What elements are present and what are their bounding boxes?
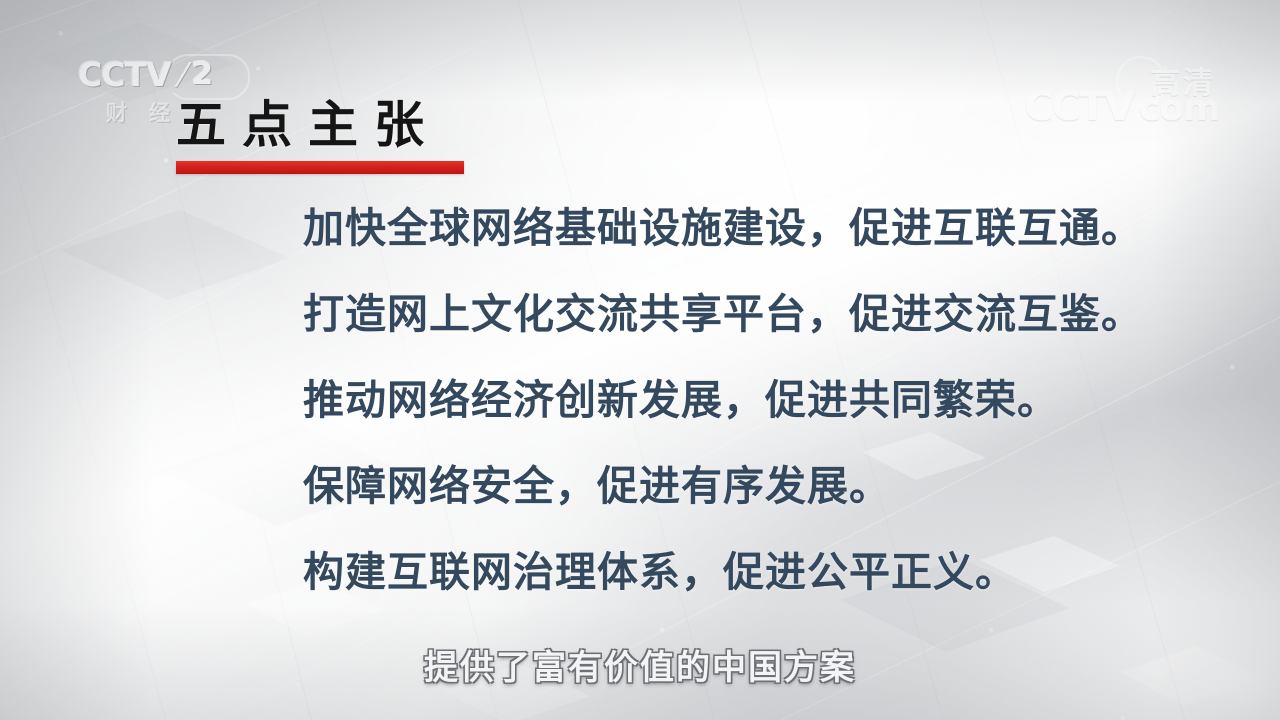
list-item: 加快全球网络基础设施建设，促进互联互通。: [303, 208, 1203, 249]
channel-subtitle-char-1: 财: [106, 97, 127, 127]
channel-network-label: CCTV: [78, 58, 171, 91]
watermark-site-label: CCTV com: [1024, 84, 1220, 130]
list-item: 保障网络安全，促进有序发展。: [303, 466, 1203, 507]
list-item: 推动网络经济创新发展，促进共同繁荣。: [303, 380, 1203, 421]
list-item: 打造网上文化交流共享平台，促进交流互鉴。: [303, 294, 1203, 335]
subtitle-caption: 提供了富有价值的中国方案: [0, 640, 1280, 689]
points-list: 加快全球网络基础设施建设，促进互联互通。 打造网上文化交流共享平台，促进交流互鉴…: [303, 208, 1203, 593]
watermark-cctv-com: 高清 CCTV com: [1024, 58, 1244, 130]
list-item: 构建互联网治理体系，促进公平正义。: [303, 552, 1203, 593]
page-title: 五点主张: [176, 100, 464, 150]
broadcast-screen: CCTV / 2 财 经 高清 CCTV com 五点主张 加快全球网络基础设施…: [0, 0, 1280, 720]
watermark-site-tld: com: [1139, 88, 1220, 129]
headline-red-underline: [176, 161, 464, 174]
channel-subtitle-char-2: 经: [149, 97, 170, 127]
headline-block: 五点主张: [176, 100, 464, 174]
watermark-site-name: CCTV: [1024, 84, 1133, 130]
